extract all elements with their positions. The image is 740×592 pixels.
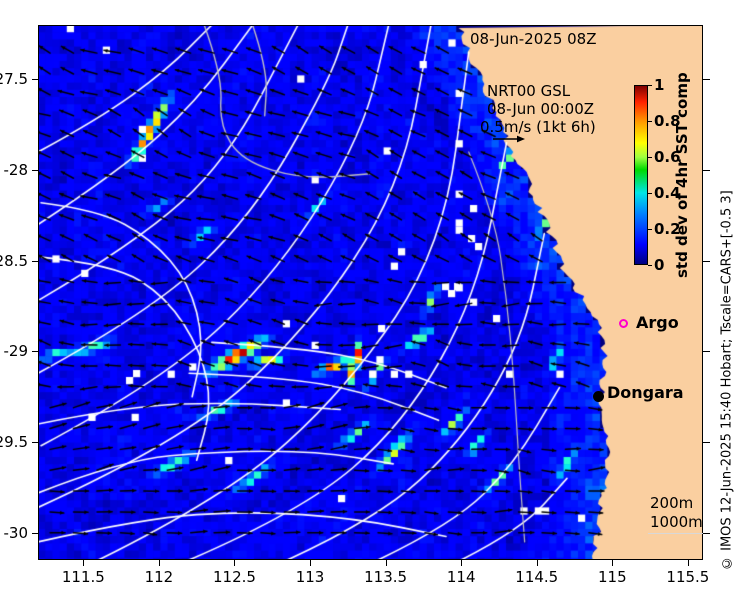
y-tick xyxy=(32,170,38,171)
x-tick xyxy=(612,560,613,566)
contour-and-vector-overlay xyxy=(38,25,703,560)
y-tick-label: -27.5 xyxy=(0,70,28,88)
depth-1000m-label: 1000m xyxy=(650,513,703,531)
y-tick-right xyxy=(703,351,710,352)
x-tick xyxy=(537,560,538,566)
x-tick xyxy=(234,560,235,566)
model-name-label: NRT00 GSL xyxy=(487,82,570,100)
x-tick-label: 113.5 xyxy=(364,568,407,586)
y-tick-label: -28 xyxy=(4,161,29,179)
colorbar-tick xyxy=(648,121,652,122)
y-tick-label: -29.5 xyxy=(0,433,28,451)
map-plot-area[interactable] xyxy=(38,25,703,560)
y-tick xyxy=(32,533,38,534)
x-tick-label: 113 xyxy=(296,568,325,586)
x-tick-label: 112 xyxy=(145,568,174,586)
x-tick xyxy=(461,560,462,566)
credit-text: © IMOS 12-Jun-2025 15:40 Hobart; Tscale=… xyxy=(718,150,736,570)
x-tick xyxy=(310,560,311,566)
y-tick-right xyxy=(703,442,710,443)
x-tick-label: 115.5 xyxy=(666,568,709,586)
dongara-legend-label: Dongara xyxy=(607,383,684,402)
x-tick xyxy=(688,560,689,566)
x-tick-label: 114 xyxy=(447,568,476,586)
y-tick xyxy=(32,261,38,262)
colorbar-tick xyxy=(648,229,652,230)
reference-arrow-icon xyxy=(492,133,526,145)
y-tick xyxy=(32,351,38,352)
dongara-marker-icon xyxy=(593,391,604,402)
y-tick xyxy=(32,442,38,443)
colorbar xyxy=(634,85,648,265)
y-tick-label: -28.5 xyxy=(0,252,28,270)
y-tick-right xyxy=(703,533,710,534)
colorbar-tick xyxy=(648,157,652,158)
y-tick-right xyxy=(703,261,710,262)
x-tick-label: 115 xyxy=(598,568,627,586)
argo-legend-label: Argo xyxy=(636,313,679,332)
argo-marker-icon xyxy=(619,319,628,328)
y-tick-label: -29 xyxy=(4,342,29,360)
date-stamp: 08-Jun-2025 08Z xyxy=(470,30,597,48)
x-tick xyxy=(386,560,387,566)
colorbar-tick-label: 0 xyxy=(654,256,664,274)
y-tick xyxy=(32,79,38,80)
depth-legend-line xyxy=(648,533,704,534)
x-tick xyxy=(83,560,84,566)
y-tick-label: -30 xyxy=(4,524,29,542)
x-tick-label: 112.5 xyxy=(213,568,256,586)
x-tick xyxy=(159,560,160,566)
colorbar-tick xyxy=(648,85,652,86)
figure-canvas: 08-Jun-2025 08Z NRT00 GSL 08-Jun 00:00Z … xyxy=(0,0,740,592)
model-time-label: 08-Jun 00:00Z xyxy=(487,100,594,118)
colorbar-title: std dev of 4hr SST comp xyxy=(672,85,692,265)
colorbar-tick xyxy=(648,193,652,194)
y-tick-right xyxy=(703,170,710,171)
colorbar-tick xyxy=(648,265,652,266)
y-tick-right xyxy=(703,79,710,80)
colorbar-tick-label: 1 xyxy=(654,76,664,94)
x-tick-label: 111.5 xyxy=(62,568,105,586)
x-tick-label: 114.5 xyxy=(515,568,558,586)
depth-200m-label: 200m xyxy=(650,494,693,512)
